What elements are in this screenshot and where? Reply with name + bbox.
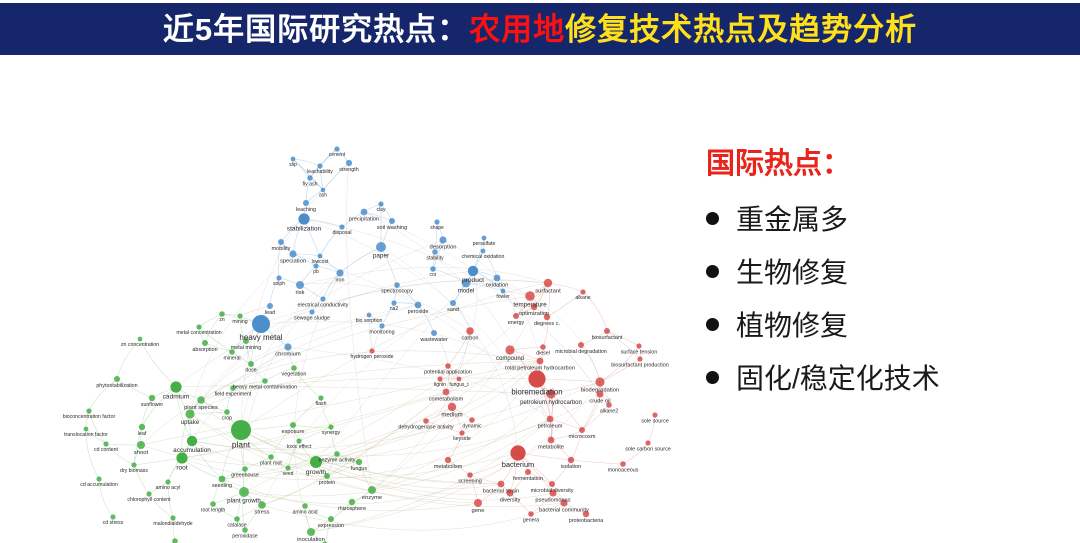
network-node[interactable]: [537, 358, 544, 365]
network-node-label: exposure: [281, 429, 304, 435]
network-node-label: crop: [222, 415, 232, 421]
network-node-label: chlorophyll content: [127, 497, 171, 503]
network-node[interactable]: [139, 424, 145, 430]
network-node-label: amino acyl: [156, 485, 181, 491]
network-node[interactable]: [276, 275, 281, 280]
network-node[interactable]: [103, 441, 108, 446]
network-node[interactable]: [443, 389, 450, 396]
network-node[interactable]: [474, 499, 482, 507]
network-node-label: uptake: [181, 419, 200, 426]
network-node-label: accumulation: [173, 447, 211, 454]
network-node-label: genera: [523, 517, 539, 523]
network-node-label: heavy metal contamination: [233, 385, 297, 391]
network-node-label: sole source: [641, 418, 669, 424]
network-node-label: keyside: [453, 436, 471, 442]
network-node-label: metal concentration: [176, 330, 221, 336]
network-node-label: phytostabilization: [96, 383, 137, 389]
page-title: 近5年国际研究热点：农用地修复技术热点及趋势分析: [163, 14, 917, 45]
network-node-label: oxidation: [486, 282, 508, 288]
network-node-label: bioconcentration factor: [63, 414, 116, 420]
network-node-label: root length: [201, 507, 226, 513]
network-node-label: model: [458, 289, 474, 295]
network-node[interactable]: [298, 213, 309, 224]
network-node-label: gene: [472, 508, 485, 514]
hot-topic-label: 植物修复: [736, 304, 848, 344]
network-node[interactable]: [302, 503, 308, 509]
network-node[interactable]: [268, 454, 274, 460]
network-node-label: synergy: [322, 430, 341, 436]
network-node-label: zn: [219, 317, 225, 323]
network-node[interactable]: [224, 409, 230, 415]
network-node-label: growth: [306, 469, 327, 476]
network-node[interactable]: [423, 418, 429, 424]
network-node[interactable]: [328, 424, 333, 429]
network-node[interactable]: [356, 459, 362, 465]
network-node[interactable]: [389, 218, 395, 224]
network-node-label: medium: [441, 412, 462, 418]
network-node-label: fly ash: [303, 181, 318, 187]
network-node-label: diesel: [536, 350, 550, 356]
network-node-label: translocation factor: [64, 432, 108, 438]
network-node-label: hydrogen peroxide: [351, 354, 394, 360]
network-node[interactable]: [284, 343, 291, 350]
network-node-label: greenhouse: [231, 472, 259, 478]
network-node[interactable]: [450, 300, 456, 306]
network-node[interactable]: [307, 175, 312, 180]
network-node[interactable]: [114, 376, 120, 382]
network-node[interactable]: [346, 160, 352, 166]
network-node[interactable]: [320, 296, 325, 301]
network-node[interactable]: [176, 452, 187, 463]
network-node[interactable]: [468, 266, 478, 276]
network-node-label: na2: [390, 306, 399, 312]
network-node-label: protein: [319, 480, 335, 486]
network-node[interactable]: [96, 476, 101, 481]
network-node-label: zn concentration: [121, 342, 159, 348]
title-segment-white: 近5年国际研究热点：: [163, 12, 469, 47]
network-node-label: enzyme: [362, 495, 382, 501]
network-node-label: inoculation: [297, 537, 325, 543]
network-node-label: mobility: [272, 246, 291, 252]
network-node-label: biodegradation: [581, 388, 619, 394]
network-node[interactable]: [334, 451, 340, 457]
network-node[interactable]: [544, 279, 552, 287]
network-node-label: surfactant: [535, 288, 561, 294]
network-node-label: bioremediation: [511, 387, 562, 396]
network-node[interactable]: [439, 236, 446, 243]
network-node-label: chemical oxidation: [462, 254, 505, 260]
title-segment-yellow: 修复技术热点及趋势分析: [565, 12, 917, 47]
network-node-label: crude oil: [589, 399, 610, 405]
network-node[interactable]: [368, 486, 376, 494]
network-node[interactable]: [494, 275, 501, 282]
network-node[interactable]: [242, 466, 248, 472]
network-node-label: leachability: [307, 169, 333, 175]
network-node[interactable]: [501, 289, 506, 294]
network-node-label: energy: [508, 320, 525, 326]
network-node-label: bacterial community: [539, 508, 589, 514]
network-node[interactable]: [510, 445, 525, 460]
network-node-label: mining: [232, 319, 247, 325]
network-node[interactable]: [170, 381, 181, 392]
network-node[interactable]: [172, 538, 178, 543]
network-node-label: vegetation: [282, 372, 307, 378]
network-node-label: metal mining: [231, 345, 262, 351]
network-node[interactable]: [138, 337, 143, 342]
network-node[interactable]: [434, 219, 439, 224]
bullet-dot-icon: [706, 371, 719, 384]
network-node[interactable]: [317, 163, 322, 168]
network-node-label: dehydrogenase activity: [398, 425, 453, 431]
network-node[interactable]: [580, 289, 585, 294]
network-node[interactable]: [237, 313, 242, 318]
network-node[interactable]: [568, 457, 574, 463]
hot-topic-item: 植物修复: [706, 304, 1076, 344]
network-node-label: mineral: [223, 355, 240, 361]
network-node-label: cor: [430, 272, 437, 278]
network-edge: [190, 412, 227, 414]
network-node[interactable]: [339, 224, 344, 229]
network-node-label: metabolism: [434, 464, 463, 470]
network-node[interactable]: [525, 469, 531, 475]
network-node-label: optimization: [519, 311, 549, 317]
network-node-label: wastewater: [419, 337, 447, 343]
network-node[interactable]: [549, 481, 555, 487]
network-node[interactable]: [430, 266, 436, 272]
network-node-label: peroxide: [408, 309, 429, 315]
network-node-label: enzyme activity: [319, 458, 356, 464]
network-node-label: shoot: [134, 450, 149, 456]
network-node-label: amino acid: [292, 509, 317, 515]
network-node-label: ash: [319, 193, 327, 199]
network-node-label: rhizosphere: [338, 506, 366, 512]
network-node[interactable]: [431, 330, 437, 336]
network-node-label: iron: [336, 277, 345, 283]
network-node-label: biosurfactant production: [611, 362, 669, 368]
network-node-label: dynamic: [462, 423, 482, 429]
network-node-label: cadmium: [163, 393, 190, 400]
network-node[interactable]: [548, 437, 555, 444]
network-edges: [86, 149, 655, 543]
network-node-label: dose: [245, 368, 256, 374]
network-node-label: fowler: [496, 294, 510, 300]
hot-topics-panel: 国际热点： 重金属多生物修复植物修复固化/稳定化技术: [706, 140, 1076, 410]
network-node[interactable]: [578, 342, 584, 348]
network-node-label: diversity: [500, 498, 521, 504]
network-node[interactable]: [267, 303, 273, 309]
hot-topic-item: 重金属多: [706, 198, 1076, 238]
network-node-label: catalase: [227, 522, 246, 528]
network-node[interactable]: [378, 201, 383, 206]
network-node[interactable]: [231, 420, 251, 440]
network-node[interactable]: [367, 313, 372, 318]
network-node-label: heavy metal: [239, 333, 282, 342]
network-node[interactable]: [202, 340, 208, 346]
network-node-label: clay: [377, 207, 386, 213]
network-node[interactable]: [448, 403, 456, 411]
network-node[interactable]: [637, 356, 642, 361]
network-node-label: seedling: [212, 483, 232, 489]
network-node[interactable]: [146, 491, 151, 496]
network-node-label: pb: [313, 269, 319, 275]
network-node-label: plant root: [260, 460, 282, 466]
network-node[interactable]: [361, 209, 368, 216]
network-node-label: speciation: [280, 259, 306, 265]
network-node[interactable]: [219, 311, 225, 317]
network-node-label: isolation: [561, 464, 582, 470]
network-node-label: solph: [273, 281, 285, 287]
network-node-label: plant species: [184, 405, 218, 411]
network-node[interactable]: [131, 462, 136, 467]
network-node-label: bacterial strain: [483, 488, 519, 494]
network-edge: [262, 278, 497, 505]
network-node[interactable]: [482, 236, 487, 241]
network-node[interactable]: [469, 417, 475, 423]
network-node[interactable]: [285, 465, 290, 470]
network-node[interactable]: [445, 457, 451, 463]
network-node[interactable]: [391, 300, 396, 305]
network-nodes: [84, 146, 658, 543]
network-node-label: proteobacteria: [569, 518, 603, 524]
network-node-label: microbial diversity: [531, 488, 574, 494]
network-node-label: desorption: [429, 245, 456, 251]
network-node[interactable]: [84, 427, 89, 432]
network-node[interactable]: [239, 487, 249, 497]
network-node-label: paper: [373, 253, 390, 260]
network-node[interactable]: [303, 200, 309, 206]
network-node-label: field experiment: [215, 391, 252, 397]
network-node-label: microcosm: [568, 434, 595, 440]
network-node[interactable]: [498, 481, 505, 488]
network-node-label: shape: [430, 225, 444, 231]
network-node-label: flash: [316, 401, 327, 407]
network-node-label: cd accumulation: [80, 482, 118, 488]
network-node[interactable]: [296, 438, 301, 443]
network-node-label: leaching: [296, 207, 316, 213]
network-node[interactable]: [604, 328, 610, 334]
network-node-label: carbon: [461, 336, 478, 342]
network-node-label: compound: [496, 356, 524, 362]
hot-topic-item: 固化/稳定化技术: [706, 357, 1076, 397]
network-node-label: lignin: [434, 382, 446, 388]
network-node-label: bio sorption: [356, 318, 383, 324]
network-node[interactable]: [334, 146, 339, 151]
bullet-dot-icon: [706, 318, 719, 331]
network-node-label: cometabolism: [429, 396, 464, 402]
network-node[interactable]: [415, 302, 422, 309]
network-node[interactable]: [318, 254, 323, 259]
network-node[interactable]: [290, 422, 296, 428]
network-node[interactable]: [394, 282, 400, 288]
network-node[interactable]: [149, 395, 155, 401]
network-node[interactable]: [307, 528, 315, 536]
network-node[interactable]: [525, 291, 535, 301]
network-node-label: plant growth: [227, 497, 261, 504]
network-node-label: peroxidase: [232, 533, 257, 539]
network-node[interactable]: [137, 441, 145, 449]
network-node[interactable]: [652, 412, 657, 417]
network-node[interactable]: [262, 378, 268, 384]
network-node[interactable]: [579, 427, 585, 433]
bullet-dot-icon: [706, 265, 719, 278]
network-node[interactable]: [170, 515, 175, 520]
network-node[interactable]: [540, 344, 546, 350]
network-node-label: cd content: [94, 447, 118, 453]
network-node-label: disposal: [332, 230, 351, 236]
network-node-label: bacterium: [502, 460, 534, 469]
network-node[interactable]: [248, 361, 254, 367]
network-node[interactable]: [309, 309, 314, 314]
network-node-label: petroleum hydrocarbon: [520, 400, 582, 406]
network-node-label: potential application: [424, 370, 472, 376]
keyword-network-map: cementslipleachabilitystrengthfly ashash…: [0, 62, 706, 543]
network-node[interactable]: [196, 324, 201, 329]
network-node-label: stability: [426, 255, 444, 261]
network-node[interactable]: [528, 511, 534, 517]
network-node-label: persulfate: [473, 241, 496, 247]
network-node-label: absorption: [192, 347, 217, 353]
network-node[interactable]: [197, 396, 205, 404]
network-node-label: spectroscopy: [381, 289, 413, 295]
network-node-label: chromium: [275, 352, 301, 358]
network-node[interactable]: [369, 348, 374, 353]
network-node-label: fungus_t: [449, 382, 469, 388]
network-node[interactable]: [187, 436, 197, 446]
network-node[interactable]: [437, 376, 442, 381]
network-node[interactable]: [278, 239, 284, 245]
network-node-label: fermentation: [513, 476, 543, 482]
network-node-label: seed: [283, 471, 294, 477]
network-node-label: precipitation: [349, 216, 379, 222]
network-node-label: alkane2: [600, 408, 618, 414]
network-node[interactable]: [86, 408, 91, 413]
network-node-label: pseudomonas: [535, 498, 570, 504]
network-node-label: monoaceous: [608, 468, 639, 474]
network-node[interactable]: [547, 416, 554, 423]
network-node-label: monitoring: [369, 329, 394, 335]
network-node[interactable]: [291, 157, 296, 162]
network-node[interactable]: [505, 345, 514, 354]
network-node[interactable]: [318, 395, 323, 400]
network-node-label: slip: [289, 162, 297, 168]
network-node-label: product: [462, 277, 484, 284]
network-node-label: metabolite: [538, 444, 564, 450]
network-node-label: stabilization: [287, 225, 322, 232]
network-node-label: total petroleum hydrocarbon: [505, 365, 575, 371]
network-node-label: degrees c.: [534, 321, 561, 327]
network-node-label: petroleum: [538, 423, 563, 429]
network-node[interactable]: [219, 476, 226, 483]
network-node-label: dry biomass: [120, 468, 148, 474]
hot-topic-item: 生物修复: [706, 251, 1076, 291]
network-node[interactable]: [445, 363, 451, 369]
network-node-label: strength: [339, 167, 358, 173]
network-edge: [106, 444, 141, 445]
network-node-label: biosurfactant: [592, 335, 623, 341]
network-node-label: soil washing: [377, 225, 407, 231]
network-node-label: sole carbon source: [625, 446, 671, 452]
hot-topics-list: 重金属多生物修复植物修复固化/稳定化技术: [706, 198, 1076, 397]
slide-title-bar: 近5年国际研究热点：农用地修复技术热点及趋势分析: [0, 0, 1080, 58]
network-node-label: toxic effect: [287, 444, 312, 450]
hot-topic-label: 生物修复: [736, 251, 848, 291]
network-node-label: expression: [318, 523, 344, 529]
network-node[interactable]: [321, 188, 326, 193]
network-node[interactable]: [210, 501, 216, 507]
network-node-label: sewage sludge: [294, 315, 330, 321]
network-node[interactable]: [457, 377, 462, 382]
network-node[interactable]: [379, 323, 384, 328]
network-node[interactable]: [645, 440, 650, 445]
network-node[interactable]: [528, 370, 545, 387]
network-node[interactable]: [481, 249, 486, 254]
hot-topics-heading: 国际热点：: [706, 140, 1076, 182]
network-node-label: leaf: [138, 431, 147, 437]
bullet-dot-icon: [706, 212, 719, 225]
network-node[interactable]: [234, 516, 240, 522]
network-node[interactable]: [349, 499, 355, 505]
network-node[interactable]: [636, 343, 641, 348]
vosviewer-network-svg: cementslipleachabilitystrengthfly ashash…: [0, 62, 706, 543]
network-node-label: plant: [232, 439, 251, 449]
network-node-label: lowcost: [312, 259, 329, 265]
network-node[interactable]: [252, 315, 270, 333]
network-node[interactable]: [459, 430, 464, 435]
network-node-label: malondialdehyde: [153, 521, 192, 527]
network-node-label: cement: [329, 152, 346, 158]
hot-topic-label: 固化/稳定化技术: [736, 357, 940, 397]
network-node-label: microbial degradation: [555, 349, 607, 355]
network-node-label: root: [176, 464, 188, 471]
slide-root: 近5年国际研究热点：农用地修复技术热点及趋势分析 cementslipleach…: [0, 0, 1080, 543]
network-node-label: cd stress: [103, 520, 124, 526]
network-node-label: sunflower: [141, 402, 163, 408]
network-edge: [134, 458, 182, 465]
network-node[interactable]: [291, 365, 297, 371]
network-node-label: screening: [458, 479, 481, 485]
network-node-label: risk: [295, 290, 304, 296]
network-node[interactable]: [467, 472, 473, 478]
network-node-label: alkane: [575, 295, 590, 301]
network-node[interactable]: [376, 242, 386, 252]
network-node[interactable]: [328, 516, 334, 522]
network-node[interactable]: [165, 479, 170, 484]
network-node[interactable]: [466, 327, 474, 335]
network-node-label: surface tension: [621, 349, 658, 355]
network-node[interactable]: [620, 461, 626, 467]
network-node-label: fungus: [351, 466, 367, 472]
network-node[interactable]: [110, 514, 115, 519]
network-node[interactable]: [336, 269, 343, 276]
network-node-label: temperature: [513, 301, 547, 308]
title-segment-red: 农用地: [469, 12, 565, 47]
network-node-label: stress: [255, 510, 270, 516]
network-node[interactable]: [296, 281, 304, 289]
hot-topic-label: 重金属多: [736, 198, 848, 238]
network-node[interactable]: [595, 377, 604, 386]
network-node-label: electrical conductivity: [298, 302, 349, 308]
network-node-label: sand: [447, 307, 459, 313]
network-edge: [222, 407, 452, 479]
network-node-label: lead: [265, 310, 275, 316]
